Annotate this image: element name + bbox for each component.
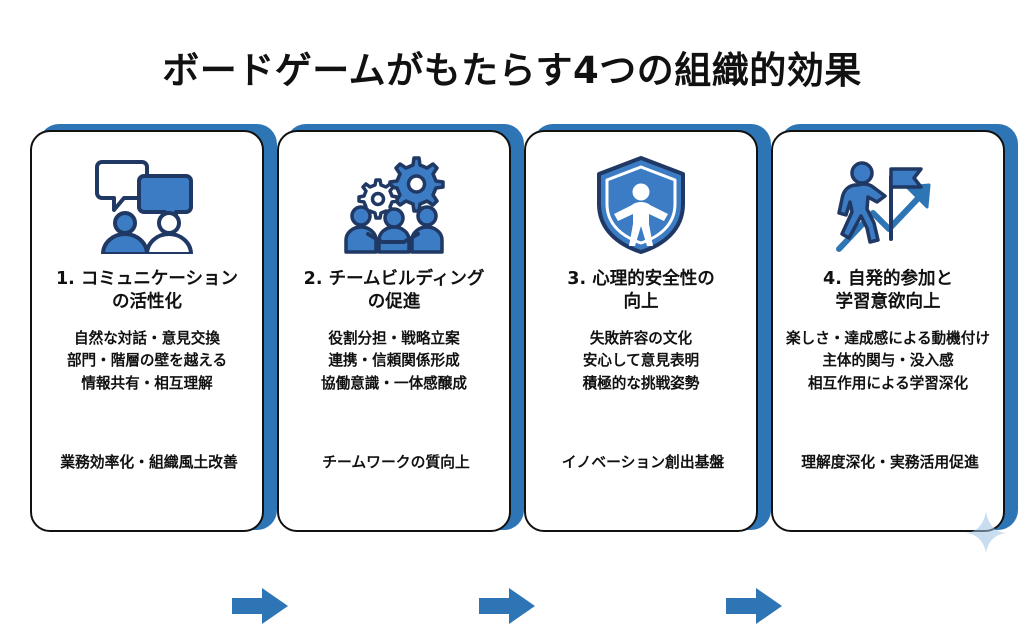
corner-watermark-icon: [962, 507, 1008, 553]
card-4-footer: 理解度深化・実務活用促進: [773, 451, 1007, 472]
card-1-bullet-1: 自然な対話・意見交換: [35, 328, 259, 350]
card-4-title: 4. 自発的参加と 学習意欲向上: [781, 268, 995, 314]
card-4-bullet-1: 楽しさ・達成感による動機付け: [776, 328, 1000, 350]
card-1-footer: 業務効率化・組織風土改善: [32, 451, 266, 472]
card-2-bullet-3: 協働意識・一体感醸成: [282, 373, 506, 395]
card-3-bullet-2: 安心して意見表明: [529, 350, 753, 372]
card-1[interactable]: 1. コミュニケーション の活性化 自然な対話・意見交換 部門・階層の壁を越える…: [30, 130, 268, 536]
card-2-title-line1: 2. チームビルディング: [287, 268, 501, 291]
arrow-card3-to-card4: [726, 588, 782, 624]
arrow-card1-to-card2: [232, 588, 288, 624]
card-3-bullet-3: 積極的な挑戦姿勢: [529, 373, 753, 395]
card-2[interactable]: 2. チームビルディング の促進 役割分担・戦略立案 連携・信頼関係形成 協働意…: [277, 130, 515, 536]
card-2-body-text: 役割分担・戦略立案 連携・信頼関係形成 協働意識・一体感醸成: [282, 328, 506, 395]
card-3-body-text: 失敗許容の文化 安心して意見表明 積極的な挑戦姿勢: [529, 328, 753, 395]
speech-bubbles-two-people-icon: [87, 154, 207, 256]
card-4-bullet-3: 相互作用による学習深化: [776, 373, 1000, 395]
arrow-card2-to-card3: [479, 588, 535, 624]
card-1-body[interactable]: 1. コミュニケーション の活性化 自然な対話・意見交換 部門・階層の壁を越える…: [30, 130, 264, 532]
card-4-title-line2: 学習意欲向上: [781, 291, 995, 314]
page-title: ボードゲームがもたらす4つの組織的効果: [0, 40, 1024, 94]
card-3-bullet-1: 失敗許容の文化: [529, 328, 753, 350]
card-4[interactable]: 4. 自発的参加と 学習意欲向上 楽しさ・達成感による動機付け 主体的関与・没入…: [771, 130, 1009, 536]
card-3-footer: イノベーション創出基盤: [526, 451, 760, 472]
card-1-title-line1: 1. コミュニケーション: [40, 268, 254, 291]
card-2-body[interactable]: 2. チームビルディング の促進 役割分担・戦略立案 連携・信頼関係形成 協働意…: [277, 130, 511, 532]
person-flag-growth-arrow-icon: [828, 154, 948, 256]
card-1-title: 1. コミュニケーション の活性化: [40, 268, 254, 314]
shield-person-icon: [581, 154, 701, 256]
card-2-footer: チームワークの質向上: [279, 451, 513, 472]
card-1-title-line2: の活性化: [40, 291, 254, 314]
card-2-bullet-1: 役割分担・戦略立案: [282, 328, 506, 350]
gears-team-icon: [334, 154, 454, 256]
card-1-bullet-3: 情報共有・相互理解: [35, 373, 259, 395]
card-4-body-text: 楽しさ・達成感による動機付け 主体的関与・没入感 相互作用による学習深化: [776, 328, 1000, 395]
cards-row: 1. コミュニケーション の活性化 自然な対話・意見交換 部門・階層の壁を越える…: [0, 130, 1024, 540]
card-3[interactable]: 3. 心理的安全性の 向上 失敗許容の文化 安心して意見表明 積極的な挑戦姿勢 …: [524, 130, 762, 536]
card-2-title: 2. チームビルディング の促進: [287, 268, 501, 314]
card-3-body[interactable]: 3. 心理的安全性の 向上 失敗許容の文化 安心して意見表明 積極的な挑戦姿勢 …: [524, 130, 758, 532]
card-4-body[interactable]: 4. 自発的参加と 学習意欲向上 楽しさ・達成感による動機付け 主体的関与・没入…: [771, 130, 1005, 532]
card-1-body-text: 自然な対話・意見交換 部門・階層の壁を越える 情報共有・相互理解: [35, 328, 259, 395]
card-1-bullet-2: 部門・階層の壁を越える: [35, 350, 259, 372]
card-4-bullet-2: 主体的関与・没入感: [776, 350, 1000, 372]
card-2-bullet-2: 連携・信頼関係形成: [282, 350, 506, 372]
card-3-title: 3. 心理的安全性の 向上: [534, 268, 748, 314]
card-4-title-line1: 4. 自発的参加と: [781, 268, 995, 291]
card-3-title-line1: 3. 心理的安全性の: [534, 268, 748, 291]
card-3-title-line2: 向上: [534, 291, 748, 314]
card-2-title-line2: の促進: [287, 291, 501, 314]
